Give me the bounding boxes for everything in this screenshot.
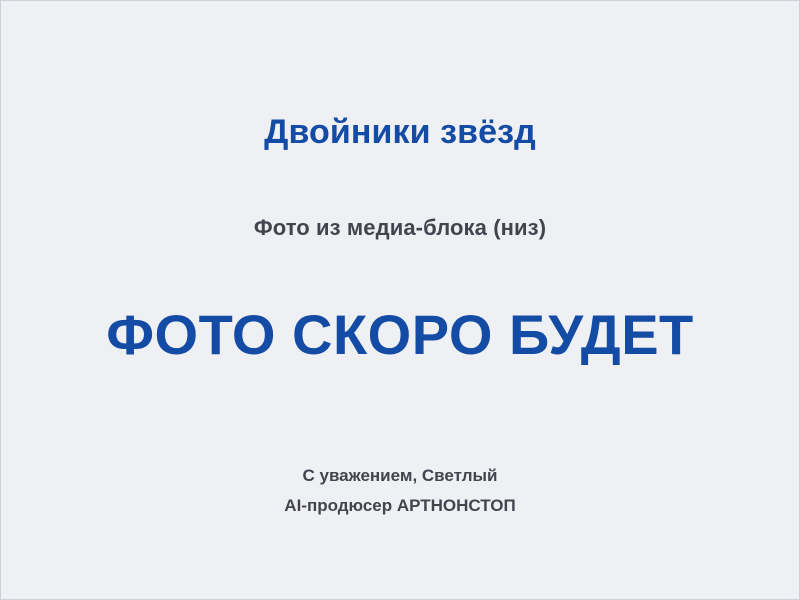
image-placeholder-canvas: Двойники звёзд Фото из медиа-блока (низ)…: [0, 0, 800, 600]
slot-label: Фото из медиа-блока (низ): [1, 217, 799, 239]
block-title: Двойники звёзд: [1, 115, 799, 149]
signature-block: С уважением, Светлый AI-продюсер АРТНОНС…: [1, 461, 799, 521]
status-headline: ФОТО СКОРО БУДЕТ: [1, 307, 799, 363]
signature-line-2: AI-продюсер АРТНОНСТОП: [1, 491, 799, 521]
signature-line-1: С уважением, Светлый: [1, 461, 799, 491]
